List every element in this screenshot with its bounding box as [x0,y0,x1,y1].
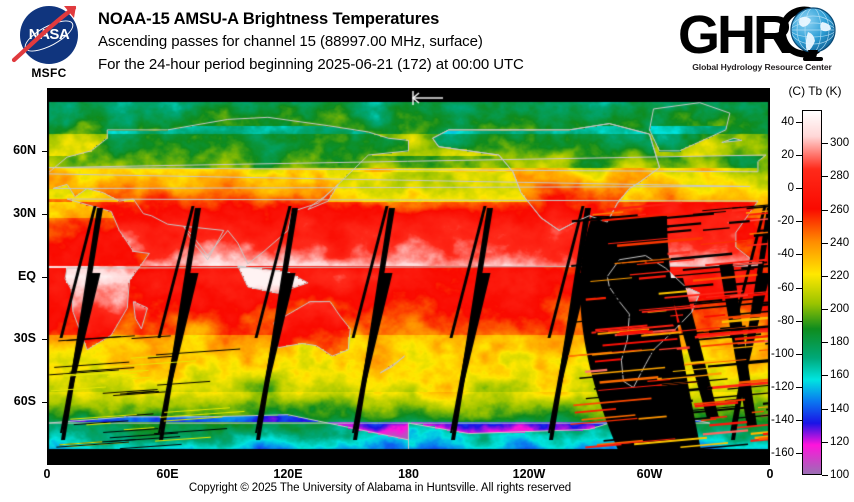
nasa-center-label: MSFC [12,66,86,80]
colorbar-celsius-label: -160 [771,447,794,459]
svg-text:GHR: GHR [678,6,791,62]
colorbar-kelvin-label: 260 [830,204,849,216]
colorbar-tick-mark [796,420,802,421]
latitude-tick-mark [42,339,47,340]
colorbar-celsius-label: -20 [777,215,794,227]
latitude-tick-mark [42,214,47,215]
header-banner: NASA MSFC NOAA-15 AMSU-A Brightness Temp… [0,0,854,88]
colorbar-tick-mark [822,375,828,376]
colorbar-tick-mark [822,409,828,410]
colorbar-celsius-label: -120 [771,381,794,393]
colorbar-kelvin-label: 200 [830,303,849,315]
map-raster[interactable] [47,88,770,465]
latitude-tick-marks [0,88,47,465]
colorbar-kelvin-label: 160 [830,369,849,381]
colorbar-tick-mark [796,453,802,454]
page-title: NOAA-15 AMSU-A Brightness Temperatures [98,8,524,30]
longitude-label: 120W [513,467,546,481]
subtitle-channel: Ascending passes for channel 15 (88997.0… [98,30,524,53]
colorbar-kelvin-label: 220 [830,270,849,282]
colorbar-celsius-axis: 40200-20-40-60-80-100-120-140-160 [770,110,802,475]
colorbar-kelvin-label: 280 [830,170,849,182]
latitude-tick-mark [42,151,47,152]
colorbar-tick-mark [796,122,802,123]
colorbar-tick-mark [822,442,828,443]
longitude-label: 180 [398,467,419,481]
colorbar-tick-mark [796,321,802,322]
nasa-red-swoosh [8,2,80,68]
colorbar-tick-mark [796,288,802,289]
colorbar-tick-mark [822,143,828,144]
longitude-label: 60E [156,467,178,481]
colorbar-celsius-label: -80 [777,315,794,327]
colorbar-kelvin-label: 140 [830,403,849,415]
colorbar-kelvin-label: 180 [830,336,849,348]
ghrc-logo: GHR Global Hydrology Resource Center [676,6,846,82]
subtitle-period: For the 24-hour period beginning 2025-06… [98,53,524,76]
colorbar-gradient [802,110,822,475]
colorbar-kelvin-label: 100 [830,469,849,481]
colorbar-tick-mark [822,475,828,476]
colorbar-tick-mark [822,243,828,244]
colorbar-tick-mark [796,155,802,156]
title-block: NOAA-15 AMSU-A Brightness Temperatures A… [98,8,524,76]
colorbar-tick-mark [796,354,802,355]
colorbar-tick-mark [822,210,828,211]
colorbar-kelvin-label: 240 [830,237,849,249]
colorbar-celsius-label: 0 [788,182,794,194]
colorbar-tick-mark [822,276,828,277]
colorbar-tick-mark [796,387,802,388]
nasa-logo: NASA MSFC [12,6,84,84]
colorbar-tick-mark [796,254,802,255]
colorbar-celsius-label: -140 [771,414,794,426]
colorbar-celsius-label: -40 [777,248,794,260]
colorbar-kelvin-axis: 300280260240220200180160140120100 [822,110,854,475]
colorbar-header: (C) Tb (K) [776,84,854,98]
latitude-tick-mark [42,402,47,403]
colorbar-tick-mark [796,221,802,222]
colorbar-celsius-label: 20 [781,149,794,161]
longitude-label: 60W [637,467,663,481]
ghrc-tagline: Global Hydrology Resource Center [682,62,842,72]
colorbar-celsius-label: -100 [771,348,794,360]
colorbar-tick-mark [822,309,828,310]
colorbar-tick-mark [822,176,828,177]
colorbar-tick-mark [796,188,802,189]
copyright-notice: Copyright © 2025 The University of Alaba… [0,482,760,494]
colorbar-kelvin-label: 300 [830,137,849,149]
global-brightness-temperature-map[interactable] [47,88,770,465]
longitude-label: 0 [44,467,51,481]
colorbar-tick-mark [822,342,828,343]
latitude-tick-mark [42,277,47,278]
colorbar-kelvin-label: 120 [830,436,849,448]
colorbar-celsius-label: -60 [777,282,794,294]
colorbar-celsius-label: 40 [781,116,794,128]
longitude-label: 120E [273,467,302,481]
ghrc-letters-graphic: GHR [676,6,846,62]
